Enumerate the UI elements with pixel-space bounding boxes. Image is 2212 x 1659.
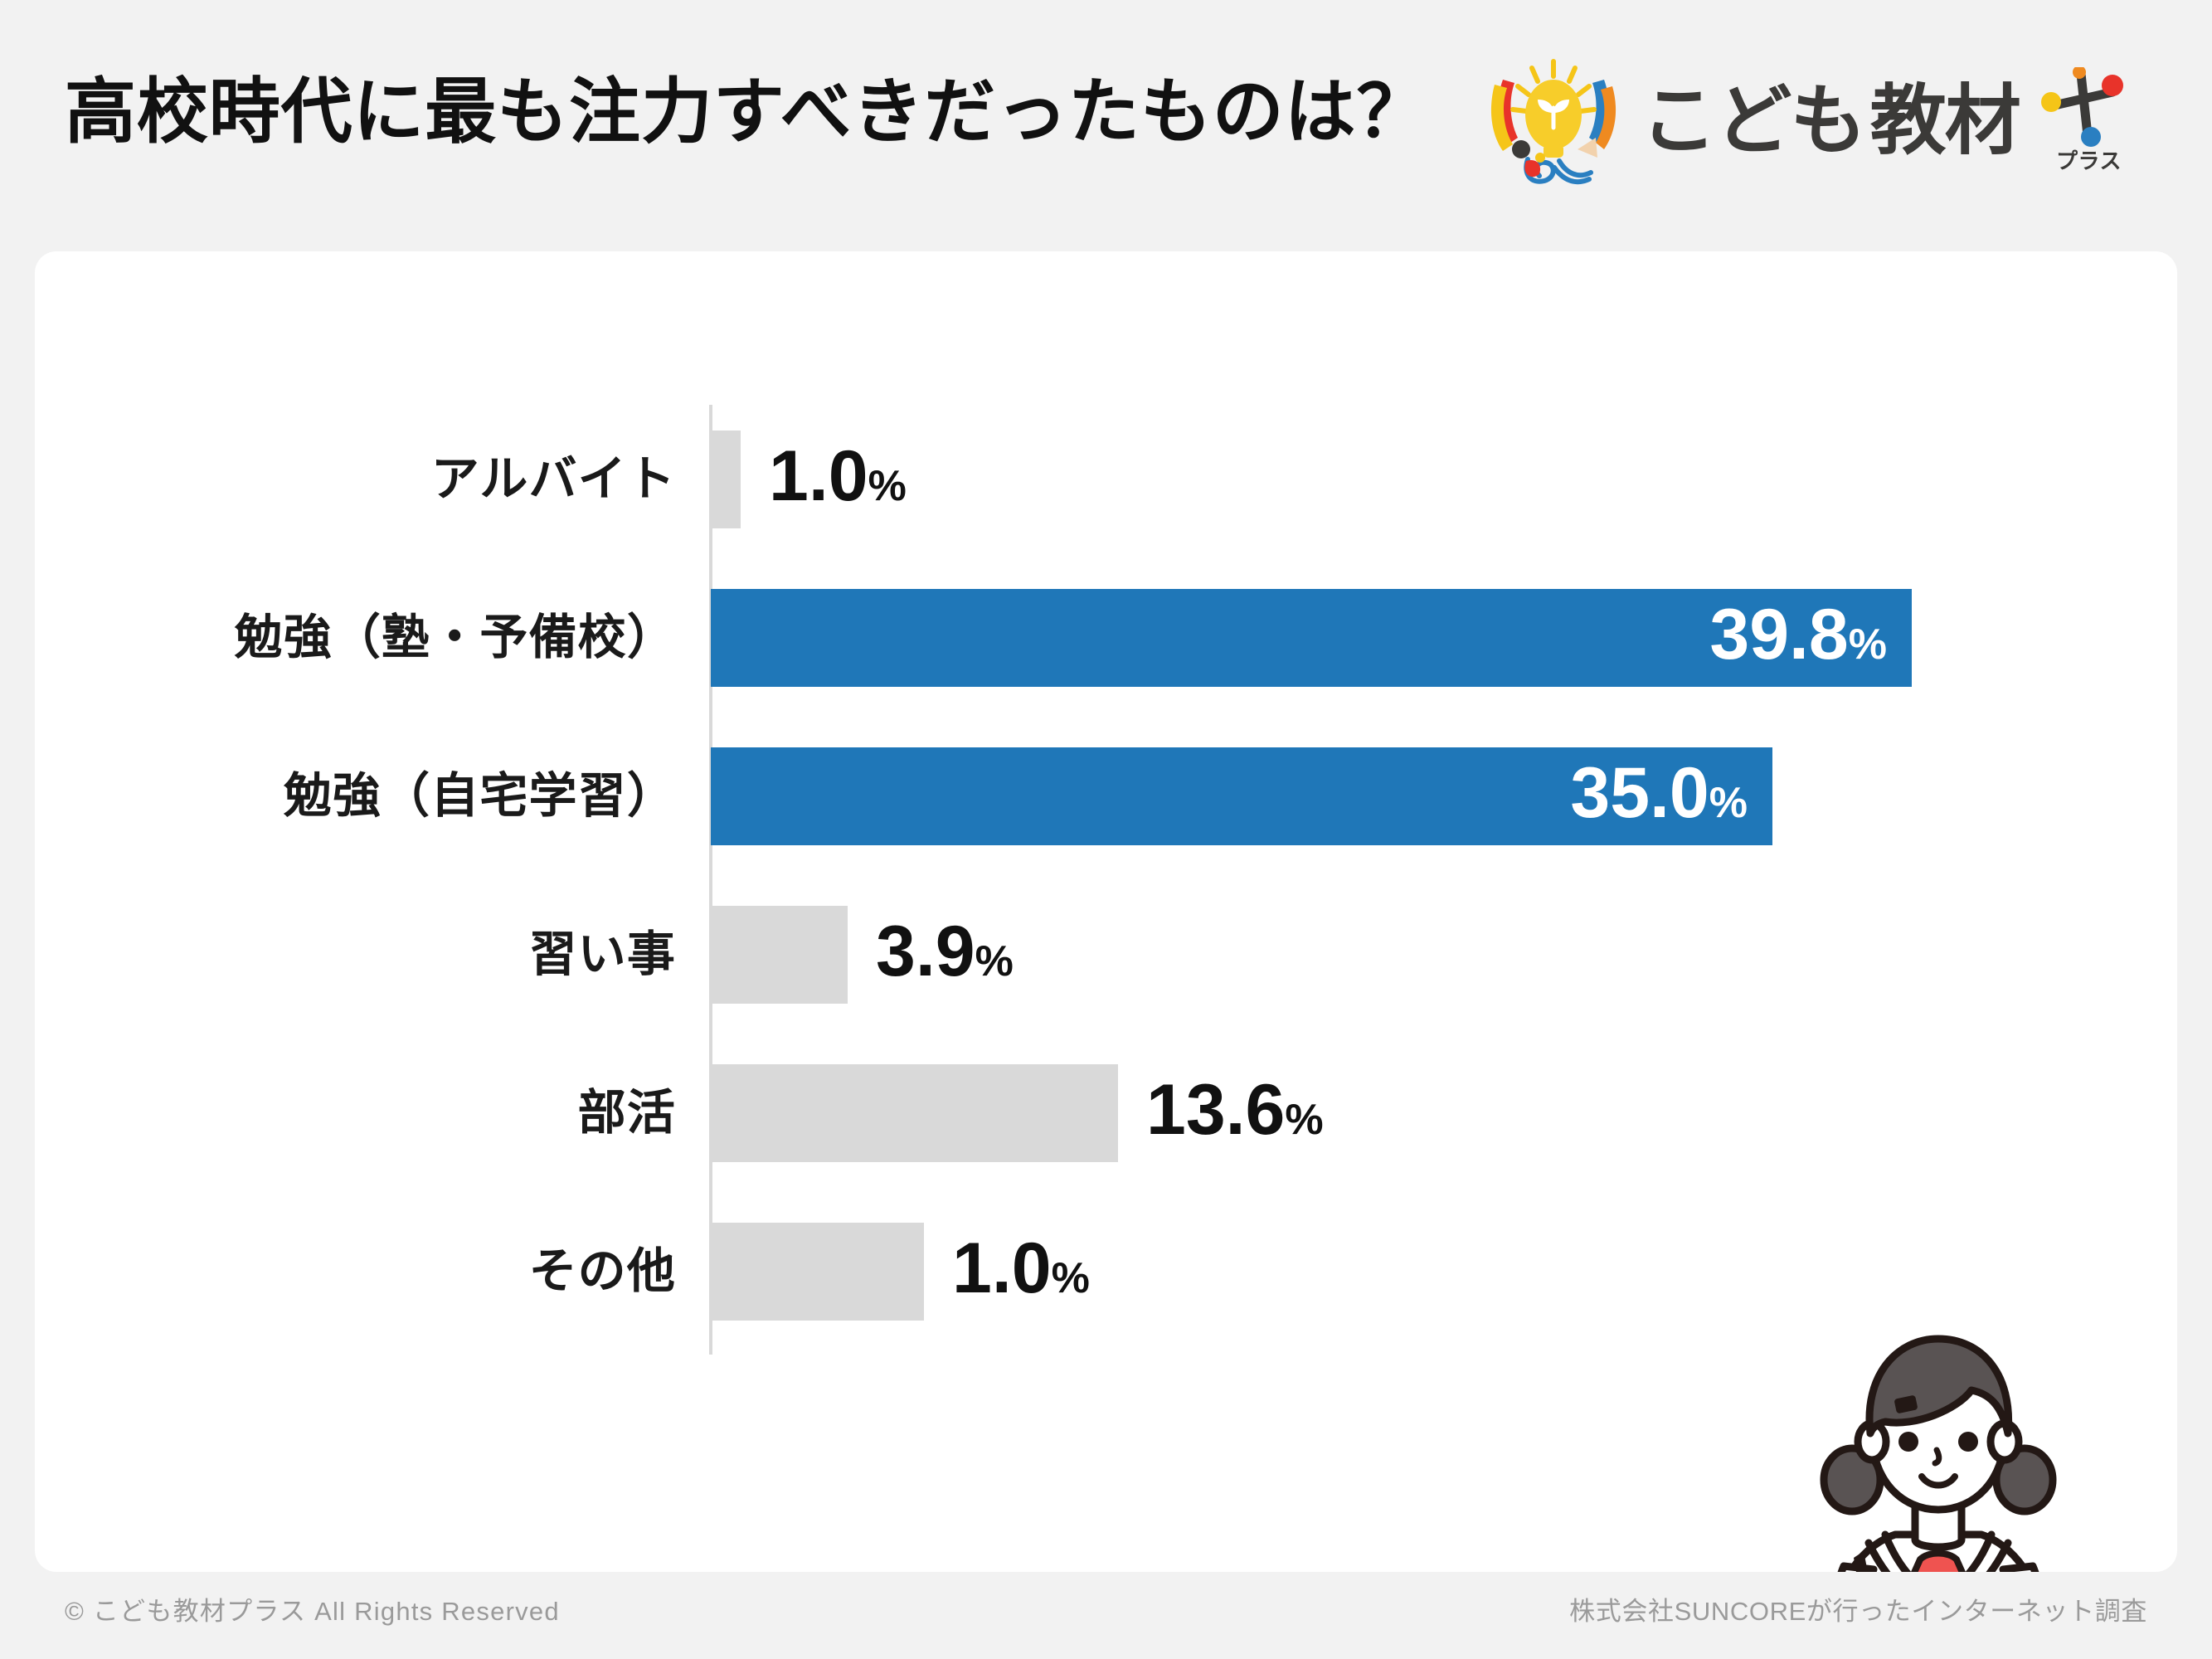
plus-dots-icon (2033, 67, 2132, 158)
lightbulb-sprout-pencil-logo-icon (1480, 51, 1627, 191)
bar-category-label: 勉強（自宅学習） (62, 772, 676, 820)
bar-6 (711, 1223, 924, 1321)
bar-row: アルバイト1.0% (35, 401, 2177, 558)
bar-category-label: 勉強（塾・予備校） (62, 614, 676, 662)
brand-logo[interactable]: こども 教材 プラス (1480, 51, 2132, 191)
bar-category-label: 部活 (62, 1089, 676, 1137)
chart-card: アルバイト1.0%勉強（塾・予備校）39.8%勉強（自宅学習）35.0%習い事3… (35, 251, 2177, 1572)
bar-row: 習い事3.9% (35, 876, 2177, 1034)
logo-word-kodomo: こども (1641, 83, 1864, 159)
logo-wordmark: こども 教材 (1641, 83, 2020, 159)
bar-value-label: 1.0% (952, 1233, 1090, 1304)
bar-1 (711, 431, 741, 528)
bar-4 (711, 906, 848, 1004)
bar-value-label: 13.6% (1146, 1074, 1324, 1146)
bar-category-label: その他 (62, 1248, 676, 1296)
bar-category-label: アルバイト (62, 455, 676, 504)
logo-word-kyozai: 教材 (1870, 83, 2020, 159)
bar-value-label: 35.0% (1570, 757, 1748, 829)
bar-row: 勉強（塾・予備校）39.8% (35, 559, 2177, 717)
page-title: 高校時代に最も注力すべきだったものは？ (65, 76, 1428, 148)
bar-value-label: 1.0% (769, 440, 907, 512)
bar-row: 部活13.6% (35, 1034, 2177, 1192)
bar-row: 勉強（自宅学習）35.0% (35, 718, 2177, 875)
bar-category-label: 習い事 (62, 931, 676, 979)
student-girl-writing-illustration (1723, 1317, 2154, 1572)
bar-5 (711, 1064, 1118, 1162)
logo-sub-plus: プラス (2056, 150, 2122, 172)
logo-plus-block: プラス (2033, 67, 2132, 175)
page-header: 高校時代に最も注力すべきだったものは？ (0, 0, 2212, 249)
survey-source-text: 株式会社SUNCOREが行ったインターネット調査 (1569, 1590, 2147, 1627)
bar-value-label: 39.8% (1709, 599, 1887, 670)
page-footer: © こども教材プラス All Rights Reserved 株式会社SUNCO… (0, 1572, 2212, 1659)
copyright-text: © こども教材プラス All Rights Reserved (65, 1590, 560, 1627)
bar-value-label: 3.9% (876, 916, 1014, 987)
